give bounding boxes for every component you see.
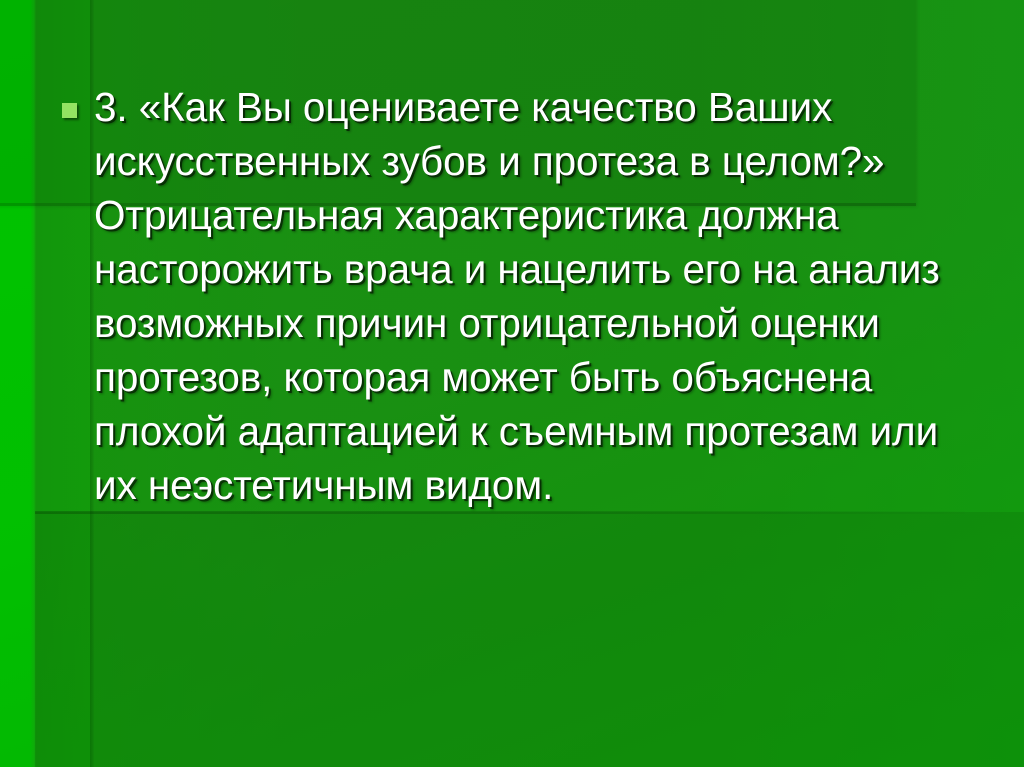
presentation-slide: 3. «Как Вы оцениваете качество Ваших иск…: [0, 0, 1024, 767]
slide-content-area: 3. «Как Вы оцениваете качество Ваших иск…: [0, 0, 1024, 767]
square-bullet-icon: [62, 103, 77, 118]
bullet-item-text: 3. «Как Вы оцениваете качество Ваших иск…: [94, 80, 984, 512]
bullet-list-item: 3. «Как Вы оцениваете качество Ваших иск…: [62, 80, 984, 512]
